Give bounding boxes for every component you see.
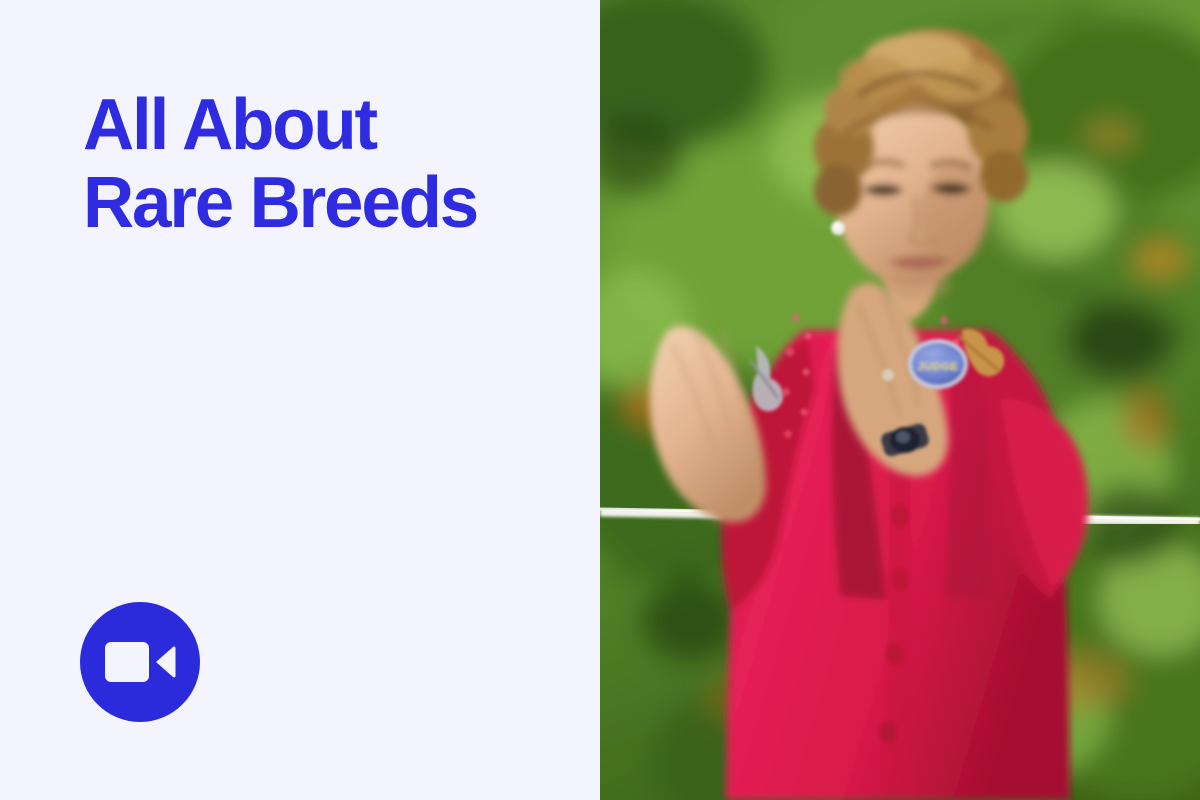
- page-title: All About Rare Breeds: [83, 86, 553, 242]
- video-badge[interactable]: [80, 602, 200, 722]
- judge-badge-label: JUDGE: [918, 361, 958, 373]
- hero-photo: JUDGE: [600, 0, 1200, 800]
- ring: [882, 369, 894, 381]
- promo-card: All About Rare Breeds: [0, 0, 1200, 800]
- video-camera-icon: [104, 638, 176, 686]
- page-title-line-1: All About: [83, 86, 546, 164]
- left-panel: All About Rare Breeds: [0, 0, 600, 800]
- judge-badge-pin: JUDGE: [908, 339, 968, 389]
- page-title-line-2: Rare Breeds: [83, 164, 546, 242]
- pearl-earring: [831, 221, 845, 235]
